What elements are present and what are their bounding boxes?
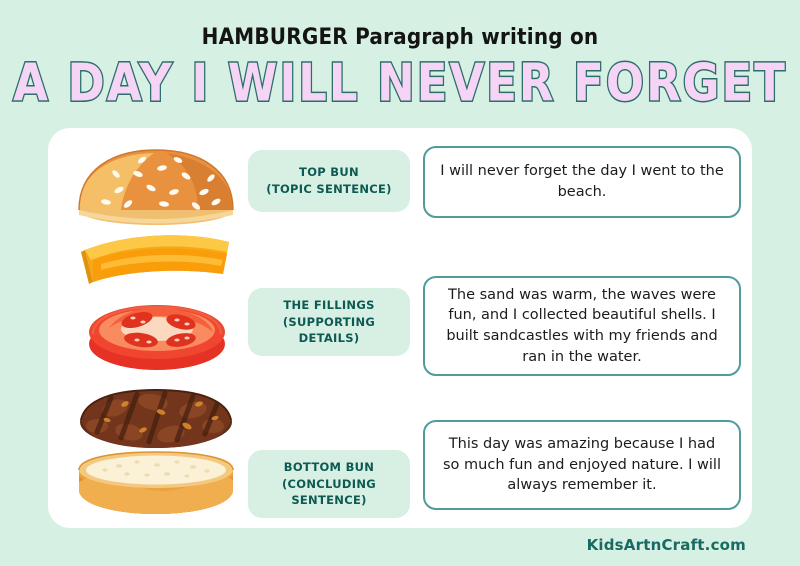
label-bottom-bun-text: BOTTOM BUN (CONCLUDING SENTENCE) bbox=[282, 459, 376, 509]
label-top-bun-text: TOP BUN (TOPIC SENTENCE) bbox=[266, 164, 391, 197]
sentence-supporting-text: The sand was warm, the waves were fun, a… bbox=[439, 285, 725, 367]
label-fillings: THE FILLINGS (SUPPORTING DETAILS) bbox=[248, 288, 410, 356]
hamburger-diagram-card: TOP BUN (TOPIC SENTENCE) I will never fo… bbox=[48, 128, 752, 528]
beef-patty-illustration bbox=[56, 380, 256, 456]
sentence-topic: I will never forget the day I went to th… bbox=[423, 146, 741, 218]
page-header: HAMBURGER Paragraph writing on A DAY I W… bbox=[0, 0, 800, 106]
label-bottom-bun: BOTTOM BUN (CONCLUDING SENTENCE) bbox=[248, 450, 410, 518]
site-watermark: KidsArtnCraft.com bbox=[587, 536, 746, 554]
sentence-topic-text: I will never forget the day I went to th… bbox=[439, 161, 725, 202]
sentence-concluding: This day was amazing because I had so mu… bbox=[423, 420, 741, 510]
sentence-supporting: The sand was warm, the waves were fun, a… bbox=[423, 276, 741, 376]
label-top-bun: TOP BUN (TOPIC SENTENCE) bbox=[248, 150, 410, 212]
top-bun-illustration bbox=[56, 142, 256, 232]
cheese-slice-illustration bbox=[56, 228, 256, 290]
page-title: A DAY I WILL NEVER FORGET bbox=[0, 58, 800, 110]
header-kicker: HAMBURGER Paragraph writing on bbox=[0, 25, 800, 47]
label-fillings-text: THE FILLINGS (SUPPORTING DETAILS) bbox=[283, 297, 375, 347]
bottom-bun-illustration bbox=[56, 446, 256, 522]
sentence-concluding-text: This day was amazing because I had so mu… bbox=[439, 434, 725, 496]
tomato-slice-illustration bbox=[56, 286, 256, 378]
